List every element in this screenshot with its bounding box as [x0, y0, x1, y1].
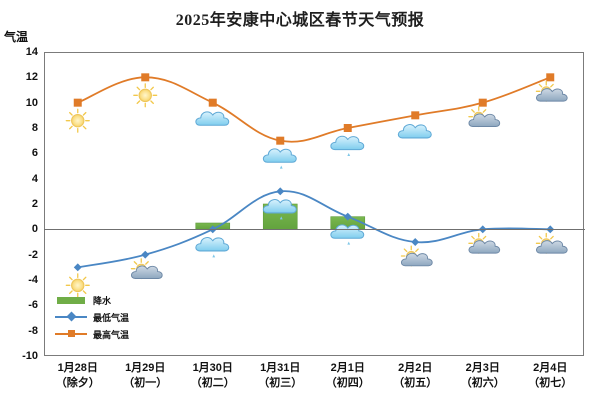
data-point-marker: [277, 137, 284, 144]
weather-icon-sun-cloud: [469, 107, 500, 127]
weather-icon-sun: [66, 109, 89, 132]
legend-label: 降水: [93, 294, 111, 307]
data-point-marker: [479, 99, 486, 106]
weather-icon-sun-cloud: [469, 234, 500, 254]
data-point-marker: [412, 112, 419, 119]
weather-icon-sun-cloud: [131, 259, 162, 279]
weather-icons: [66, 82, 567, 297]
legend-label: 最高气温: [93, 328, 129, 341]
weather-icon-sun: [134, 84, 157, 107]
legend: 降水最低气温最高气温: [54, 292, 129, 343]
legend-swatch: [54, 294, 88, 306]
zero-axis-line: [44, 229, 585, 230]
legend-label: 最低气温: [93, 311, 129, 324]
legend-item[interactable]: 最低气温: [54, 309, 129, 325]
weather-icon-cloud: [398, 125, 431, 138]
data-point-marker: [142, 74, 149, 81]
weather-forecast-chart: 2025年安康中心城区春节天气预报 气温 安康市气象台发布 1412108642…: [0, 0, 600, 420]
legend-bar-swatch: [57, 297, 85, 304]
data-point-marker: [277, 188, 284, 195]
weather-icon-sun-cloud: [401, 246, 432, 266]
legend-marker-swatch: [67, 312, 77, 322]
legend-item[interactable]: 降水: [54, 292, 129, 308]
legend-item[interactable]: 最高气温: [54, 326, 129, 342]
chart-canvas: [0, 0, 600, 420]
legend-marker-swatch: [68, 330, 75, 337]
legend-swatch: [54, 311, 88, 323]
weather-icon-cloud: [196, 112, 229, 125]
weather-icon-cloud-rain: [263, 149, 296, 169]
data-point-marker: [412, 239, 419, 246]
data-point-marker: [142, 251, 149, 258]
weather-icon-cloud-rain: [196, 238, 229, 258]
legend-swatch: [54, 328, 88, 340]
data-point-marker: [74, 99, 81, 106]
data-point-marker: [74, 264, 81, 271]
data-point-marker: [344, 124, 351, 131]
weather-icon-sun-cloud: [536, 82, 567, 102]
data-point-marker: [547, 74, 554, 81]
data-point-marker: [209, 99, 216, 106]
weather-icon-sun-cloud: [536, 234, 567, 254]
weather-icon-cloud-rain: [331, 136, 364, 156]
